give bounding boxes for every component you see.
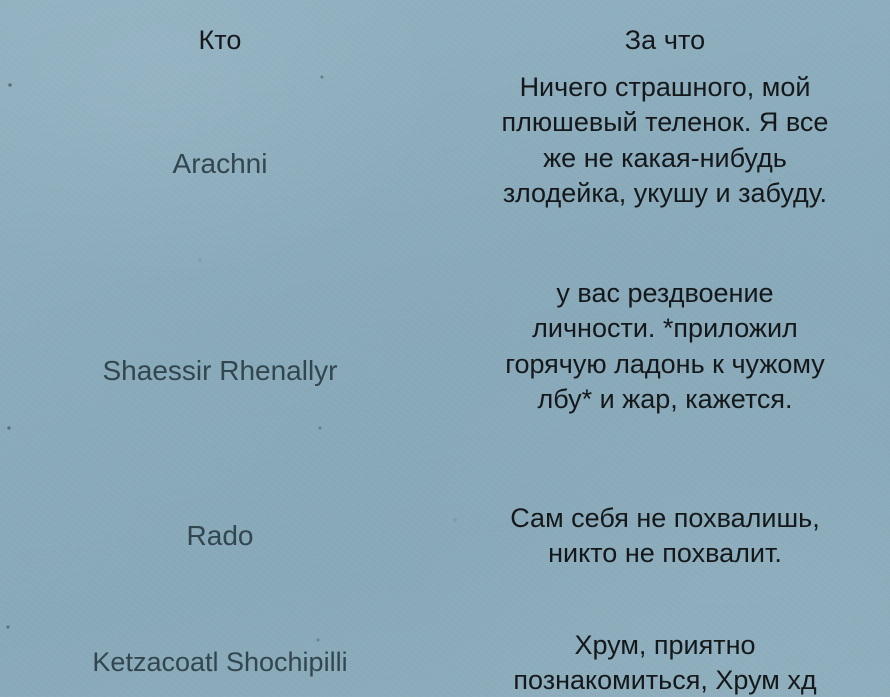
character-quote: Сам себя не похвалишь, никто не похвалит…: [440, 468, 890, 603]
character-quote: у вас рездвоение личности. *приложил гор…: [440, 272, 890, 468]
screenshot-root: Кто За что Arachni Ничего страшного, мой…: [0, 0, 890, 697]
column-header-who: Кто: [0, 0, 440, 54]
character-name: Arachni: [0, 54, 440, 272]
character-name: Shaessir Rhenallyr: [0, 272, 440, 468]
column-header-reason: За что: [440, 0, 890, 54]
character-quote: Хрум, приятно познакомиться, Хрум хд: [440, 603, 890, 697]
character-name: Ketzacoatl Shochipilli: [0, 603, 440, 697]
character-name: Rado: [0, 468, 440, 603]
characters-quotes-table: Кто За что Arachni Ничего страшного, мой…: [0, 0, 890, 697]
character-quote: Ничего страшного, мой плюшевый теленок. …: [440, 54, 890, 272]
